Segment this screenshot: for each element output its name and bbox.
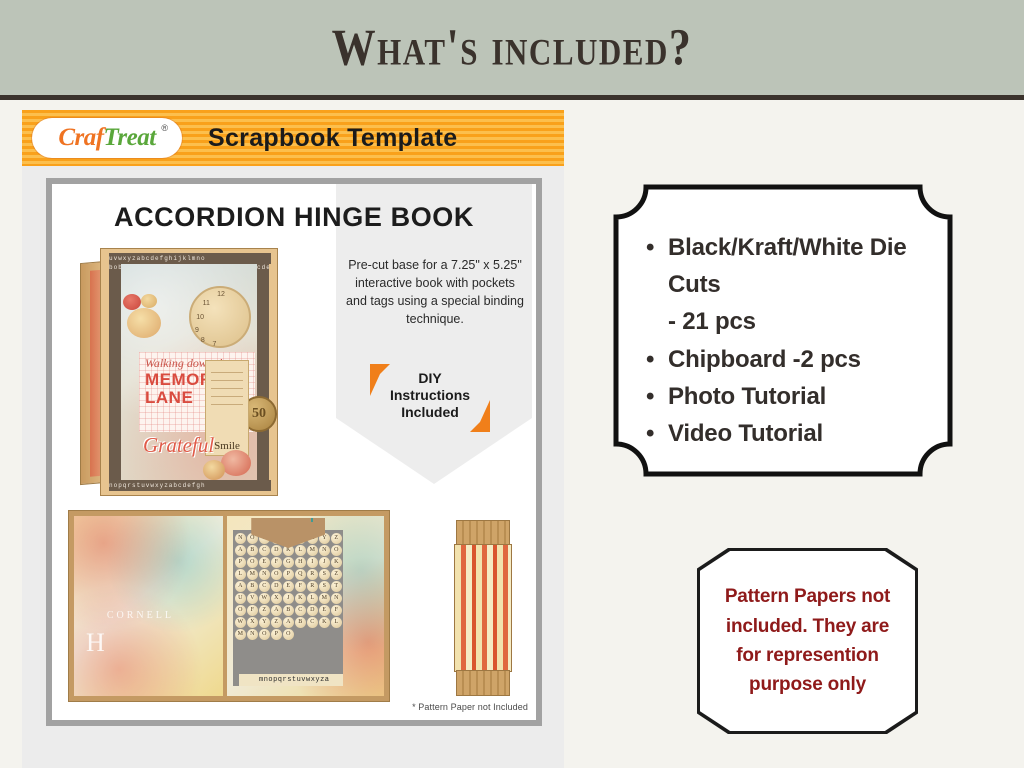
key-letter: L	[295, 545, 306, 556]
alphabet-border-top: uvwxyzabcdefghijklmno	[109, 253, 271, 264]
key-letter: C	[259, 581, 270, 592]
alphabet-border-left: bobolinr	[109, 263, 121, 481]
list-item-label: Black/Kraft/White Die Cuts	[668, 234, 907, 298]
key-letter: N	[235, 533, 246, 544]
product-name: ACCORDION HINGE BOOK	[52, 202, 536, 233]
key-letter: F	[295, 581, 306, 592]
spine-bottom-edge	[456, 670, 510, 696]
key-letter: D	[271, 581, 282, 592]
logo-treat-text: Treat	[104, 124, 156, 151]
key-letter: H	[295, 557, 306, 568]
key-letter: Z	[331, 569, 342, 580]
key-letter: B	[283, 605, 294, 616]
key-letter: A	[235, 545, 246, 556]
key-letter: V	[247, 593, 258, 604]
key-letter: F	[331, 605, 342, 616]
key-letter: E	[319, 605, 330, 616]
book-left-page: CORNELL H	[74, 516, 223, 696]
hexagon-fill: Pattern Papers not included. They are fo…	[700, 551, 915, 731]
clock-number-9: 9	[195, 327, 199, 334]
key-letter: D	[307, 605, 318, 616]
product-description: Pre-cut base for a 7.25" x 5.25" interac…	[344, 256, 526, 329]
key-letter: M	[235, 629, 246, 640]
typewriter-keys-pattern: NOPQSTXYZABCDKLMNOPOEFGHIJKLMNOPQRSZABCD…	[233, 530, 343, 686]
flower-decoration	[123, 294, 141, 310]
album-patterned-paper: 12 11 10 9 8 7 Walking down the MEMORY L…	[121, 264, 257, 480]
key-letter: F	[247, 605, 258, 616]
ticket-rule	[211, 380, 243, 381]
note-text: Pattern Papers not included. They are fo…	[700, 582, 915, 700]
clock-number-12: 12	[217, 291, 225, 298]
key-letter: A	[271, 605, 282, 616]
key-letter: F	[271, 557, 282, 568]
diy-badge-line-3: Included	[370, 404, 490, 421]
brand-bar-title: Scrapbook Template	[208, 124, 457, 153]
list-item-label: Chipboard -2 pcs	[668, 346, 861, 373]
craftreat-logo: CrafTreat ®	[32, 118, 182, 158]
alphabet-border-right: cdefghij	[257, 263, 269, 481]
alphabet-border-bottom: nopqrstuvwxyzabcdefgh	[109, 480, 271, 491]
key-letter: E	[259, 557, 270, 568]
key-letter: M	[319, 593, 330, 604]
included-items-card: Black/Kraft/White Die Cuts - 21 pcs Chip…	[612, 183, 954, 478]
album-bottom-script: Grateful	[143, 433, 214, 458]
key-letter: I	[307, 557, 318, 568]
key-letter: L	[331, 617, 342, 628]
logo-craf-text: Craf	[58, 124, 103, 151]
key-letter: O	[235, 605, 246, 616]
clock-face-icon: 12 11 10 9 8 7	[189, 286, 251, 348]
key-letter: K	[331, 557, 342, 568]
key-letter: S	[319, 581, 330, 592]
included-items-list: Black/Kraft/White Die Cuts - 21 pcs Chip…	[642, 229, 936, 452]
key-letter: B	[247, 581, 258, 592]
flower-decoration	[141, 294, 157, 308]
key-letter: O	[247, 557, 258, 568]
key-letter: W	[235, 617, 246, 628]
key-letter: O	[331, 545, 342, 556]
key-letter: J	[283, 593, 294, 604]
album-cover-photo: uvwxyzabcdefghijklmno nopqrstuvwxyzabcde…	[80, 248, 278, 496]
key-letter: C	[259, 545, 270, 556]
key-letter: O	[259, 629, 270, 640]
spine-top-edge	[456, 520, 510, 546]
key-letter: D	[271, 545, 282, 556]
brand-bar: CrafTreat ® Scrapbook Template	[22, 110, 564, 166]
album-front-cover: uvwxyzabcdefghijklmno nopqrstuvwxyzabcde…	[100, 248, 278, 496]
key-letter: X	[271, 593, 282, 604]
tag-string-icon	[311, 506, 313, 522]
key-letter: E	[283, 581, 294, 592]
key-letter: A	[235, 581, 246, 592]
pattern-paper-disclaimer: * Pattern Paper not Included	[412, 702, 528, 712]
drop-cap-letter: H	[86, 628, 105, 658]
faint-word-text: CORNELL	[107, 610, 174, 621]
book-right-page: NOPQSTXYZABCDKLMNOPOEFGHIJKLMNOPQRSZABCD…	[227, 516, 384, 696]
key-letter: B	[295, 617, 306, 628]
diy-instructions-badge: DIY Instructions Included	[370, 364, 490, 432]
list-item-sub: - 21 pcs	[668, 303, 936, 340]
clock-number-10: 10	[196, 314, 204, 321]
diy-badge-line-2: Instructions	[370, 387, 490, 404]
product-image-frame: ACCORDION HINGE BOOK Pre-cut base for a …	[46, 178, 542, 726]
clock-number-7: 7	[212, 341, 216, 348]
key-letter: Q	[295, 569, 306, 580]
diy-badge-text: DIY Instructions Included	[370, 370, 490, 421]
ticket-rule	[211, 388, 243, 389]
key-letter: R	[307, 569, 318, 580]
key-letter: M	[307, 545, 318, 556]
key-letter: Y	[259, 617, 270, 628]
flower-decoration	[221, 450, 251, 476]
key-letter: W	[259, 593, 270, 604]
key-letter: Z	[331, 533, 342, 544]
logo-wordmark: CrafTreat	[58, 124, 155, 152]
key-letter: P	[235, 557, 246, 568]
key-letter: C	[307, 617, 318, 628]
key-letter: G	[283, 557, 294, 568]
key-letter: R	[307, 581, 318, 592]
list-item: Video Tutorial	[642, 415, 936, 452]
spine-folded-pages	[454, 544, 512, 672]
registered-trademark-icon: ®	[161, 123, 168, 133]
key-letter: N	[331, 593, 342, 604]
key-letter: O	[271, 569, 282, 580]
alphabet-footer-strip: mnopqrstuvwxyza	[239, 674, 343, 686]
key-letter: Z	[259, 605, 270, 616]
clock-number-8: 8	[201, 337, 205, 344]
key-letter: P	[283, 569, 294, 580]
accordion-spine-photo	[454, 520, 512, 696]
key-letter: U	[235, 593, 246, 604]
list-item: Black/Kraft/White Die Cuts - 21 pcs	[642, 229, 936, 341]
flower-decoration	[203, 460, 225, 480]
page-header: What's included?	[0, 0, 1024, 100]
key-letter: L	[307, 593, 318, 604]
key-letter: B	[247, 545, 258, 556]
ticket-rule	[211, 404, 243, 405]
key-letter: S	[319, 569, 330, 580]
diy-badge-line-1: DIY	[370, 370, 490, 387]
key-letter: N	[259, 569, 270, 580]
key-letter: L	[235, 569, 246, 580]
key-letter: P	[271, 629, 282, 640]
list-item-label: Video Tutorial	[668, 420, 823, 447]
clock-number-11: 11	[203, 300, 210, 307]
open-book-photo: CORNELL H NOPQSTXYZABCDKLMNOPOEFGHIJKLMN…	[68, 510, 390, 702]
key-letter: J	[319, 557, 330, 568]
key-letter: N	[319, 545, 330, 556]
flower-decoration	[127, 308, 161, 338]
list-item-label: Photo Tutorial	[668, 383, 826, 410]
key-letter: N	[247, 629, 258, 640]
key-letter: O	[283, 629, 294, 640]
key-letter: T	[331, 581, 342, 592]
product-card: CrafTreat ® Scrapbook Template ACCORDION…	[22, 110, 564, 768]
key-letter: Z	[271, 617, 282, 628]
pattern-paper-note-hexagon: Pattern Papers not included. They are fo…	[697, 548, 918, 734]
ticket-rule	[211, 396, 243, 397]
page-title: What's included?	[332, 17, 693, 77]
key-letter: X	[247, 617, 258, 628]
list-item: Photo Tutorial	[642, 378, 936, 415]
ticket-rule	[211, 372, 243, 373]
key-letter: C	[295, 605, 306, 616]
key-letter: M	[247, 569, 258, 580]
key-letter: K	[295, 593, 306, 604]
key-letter: K	[319, 617, 330, 628]
key-letter: A	[283, 617, 294, 628]
list-item: Chipboard -2 pcs	[642, 341, 936, 378]
